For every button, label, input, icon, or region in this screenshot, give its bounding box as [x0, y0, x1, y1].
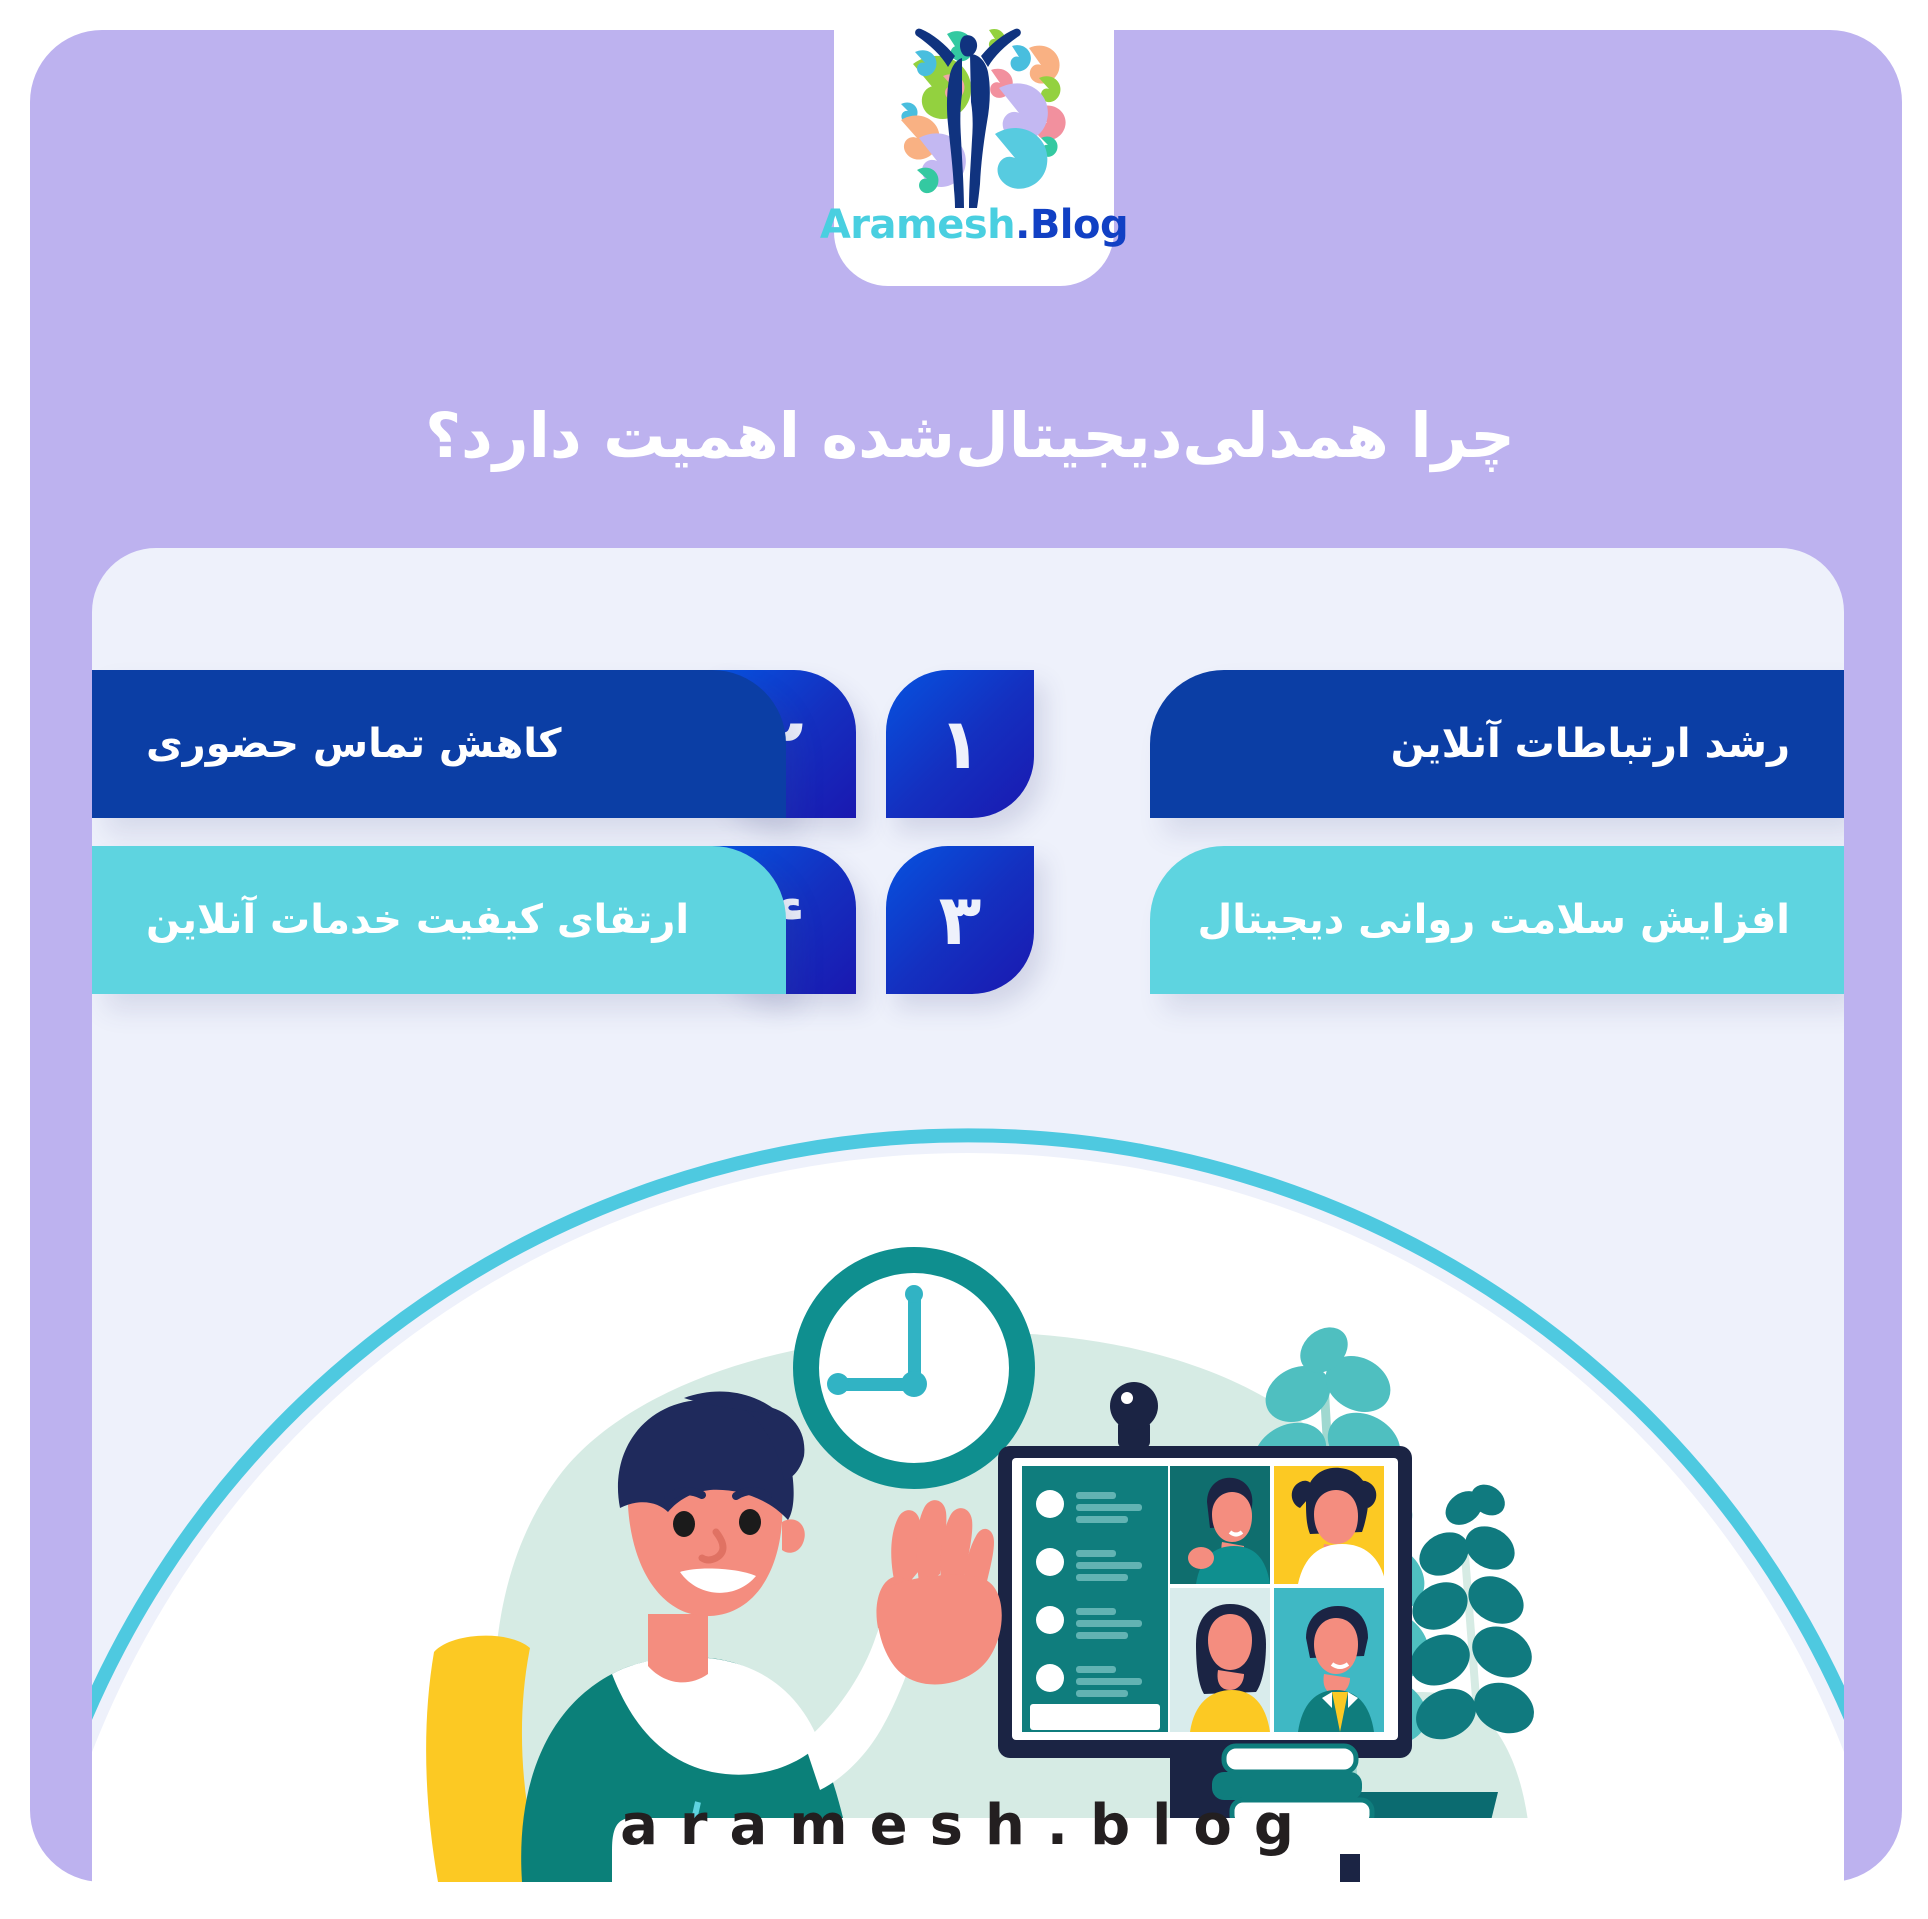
item-number-badge-1[interactable]: ۱: [886, 670, 1034, 818]
brand-name-primary: Aramesh: [820, 202, 1015, 248]
brand-name-secondary: .Blog: [1015, 202, 1128, 248]
page-title: چرا همدلی‌دیجیتال‌شده اهمیت دارد؟: [120, 394, 1820, 478]
item-label-text: افزایش سلامت روانی دیجیتال: [1150, 897, 1790, 943]
item-row: افزایش سلامت روانی دیجیتال ۳ ۴ ارتقای کی…: [92, 846, 1844, 994]
wall-clock-icon: [806, 1260, 1022, 1476]
item-label-3[interactable]: افزایش سلامت روانی دیجیتال: [1150, 846, 1844, 994]
item-label-4[interactable]: ارتقای کیفیت خدمات آنلاین: [92, 846, 786, 994]
item-label-text: ارتقای کیفیت خدمات آنلاین: [146, 897, 786, 943]
footer-url: aramesh.blog: [92, 1793, 1844, 1858]
item-label-1[interactable]: رشد ارتباطات آنلاین: [1150, 670, 1844, 818]
tree-person-logo-icon: [869, 12, 1079, 208]
item-label-text: کاهش تماس حضوری: [146, 721, 786, 767]
content-card: رشد ارتباطات آنلاین ۱ ۲ کاهش تماس حضوری …: [92, 548, 1844, 1882]
item-label-text: رشد ارتباطات آنلاین: [1150, 721, 1790, 767]
brand-logo-text: Aramesh.Blog: [820, 202, 1128, 248]
items-grid: رشد ارتباطات آنلاین ۱ ۲ کاهش تماس حضوری …: [92, 670, 1844, 1012]
brand-logo-badge: Aramesh.Blog: [834, 0, 1114, 286]
item-number-badge-3[interactable]: ۳: [886, 846, 1034, 994]
item-row: رشد ارتباطات آنلاین ۱ ۲ کاهش تماس حضوری: [92, 670, 1844, 818]
item-label-2[interactable]: کاهش تماس حضوری: [92, 670, 786, 818]
video-call-illustration: [92, 1002, 1844, 1882]
